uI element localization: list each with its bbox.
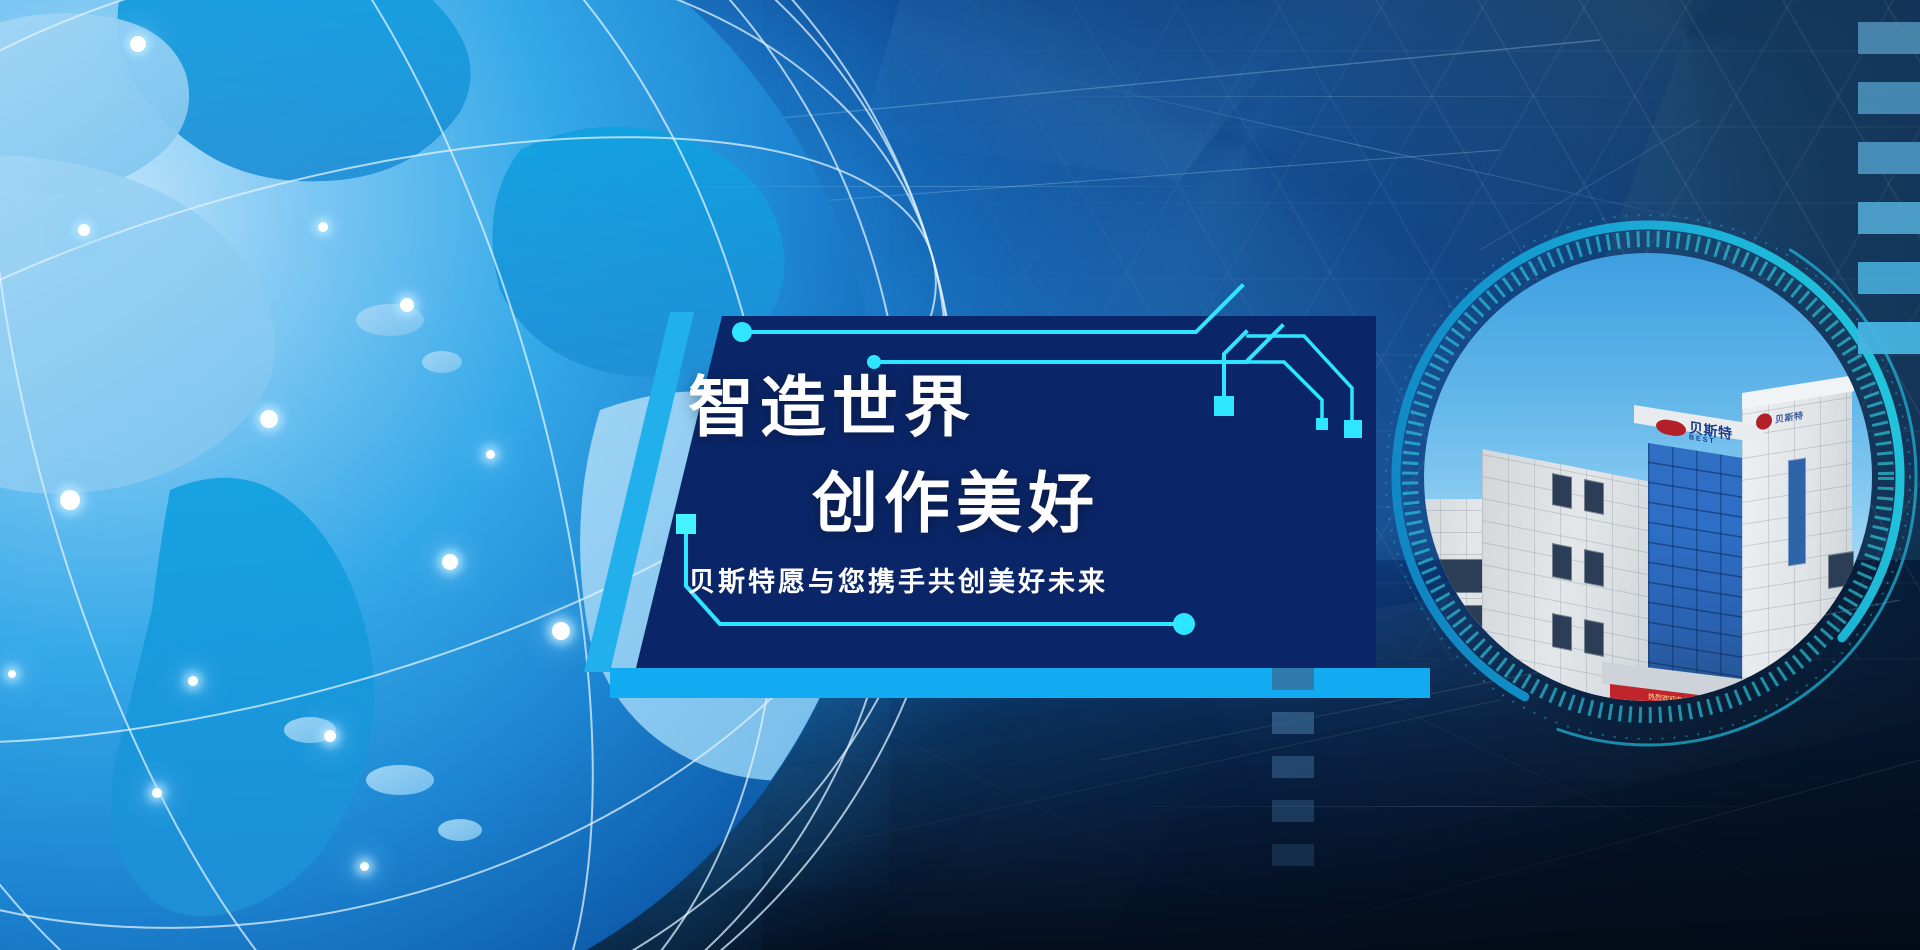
decor-block	[1272, 800, 1314, 822]
network-node	[152, 788, 162, 798]
headline-line-1: 智造世界	[688, 354, 976, 450]
decor-block	[1272, 712, 1314, 734]
decor-block	[1858, 82, 1920, 114]
headquarters-photo: 贝斯特 BEST 贝斯特 热烈欢迎各位领导莅临	[1424, 253, 1872, 701]
network-node	[8, 670, 16, 678]
right-edge-block-stack	[1858, 22, 1920, 354]
glass-curtain-wall	[1648, 443, 1748, 699]
network-node	[442, 554, 458, 570]
tech-circle-frame: 贝斯特 BEST 贝斯特 热烈欢迎各位领导莅临	[1368, 197, 1920, 757]
network-node	[260, 410, 278, 428]
network-node	[552, 622, 570, 640]
network-node	[60, 490, 80, 510]
network-node	[318, 222, 328, 232]
decor-block	[1272, 668, 1314, 690]
light-beam	[660, 186, 1220, 187]
decor-block	[1858, 262, 1920, 294]
bottom-block-stack	[1272, 668, 1314, 866]
network-node	[400, 298, 414, 312]
decor-block	[1858, 202, 1920, 234]
network-node	[486, 450, 495, 459]
network-node	[188, 676, 198, 686]
headline-panel: 智造世界 创作美好 贝斯特愿与您携手共创美好未来	[636, 316, 1376, 668]
network-node	[78, 224, 90, 236]
banner-stage: 贝斯特 BEST 贝斯特 热烈欢迎各位领导莅临	[0, 0, 1920, 950]
headline-line-2: 创作美好	[812, 450, 1100, 546]
decor-block	[1272, 756, 1314, 778]
rooftop-sign-cn-2: 贝斯特	[1775, 411, 1804, 425]
network-node	[360, 862, 369, 871]
sign-red-emblem-2	[1756, 412, 1772, 431]
headline-text-block: 智造世界 创作美好 贝斯特愿与您携手共创美好未来	[636, 316, 1376, 668]
sign-red-emblem	[1656, 418, 1686, 438]
network-node	[324, 730, 336, 742]
decor-block	[1858, 142, 1920, 174]
decor-block	[1858, 322, 1920, 354]
decor-block	[1272, 844, 1314, 866]
light-beam	[980, 96, 1680, 97]
decor-block	[1858, 22, 1920, 54]
headline-subtitle: 贝斯特愿与您携手共创美好未来	[688, 560, 1108, 599]
light-beam	[1100, 806, 1800, 807]
network-node	[130, 36, 146, 52]
